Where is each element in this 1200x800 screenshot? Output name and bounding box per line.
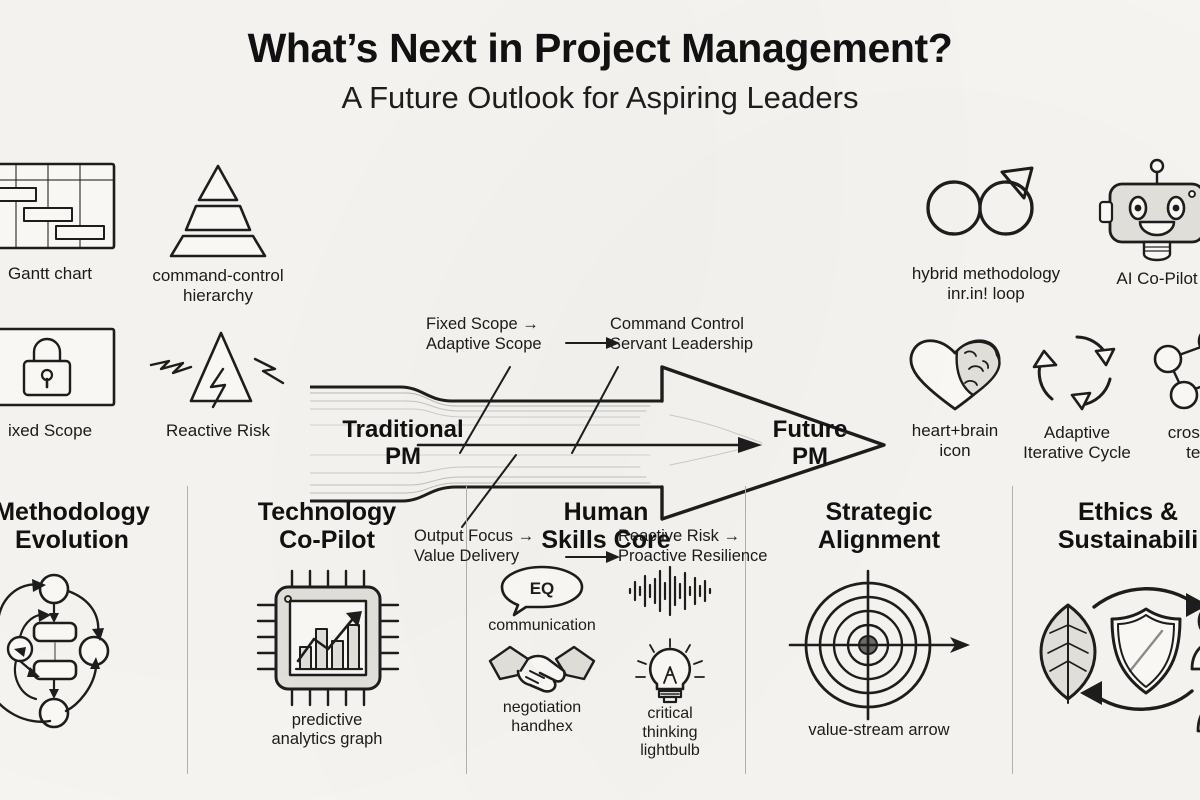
pillar-art: [188, 565, 466, 711]
arrow-start-label: Traditional PM: [328, 417, 478, 471]
pillar-divider: [187, 486, 188, 774]
icon-cell-heart-brain: heart+brain icon: [896, 325, 1014, 461]
icon-caption: cross-fu tea: [1138, 423, 1200, 463]
icon-caption: ixed Scope: [0, 421, 135, 441]
skill-cell-critical-thinking: critical thinking lightbulb: [609, 637, 731, 761]
transition-note-value: Output Focus → Value Delivery: [414, 527, 574, 567]
skill-caption: critical thinking lightbulb: [609, 705, 731, 761]
lightbulb-icon: [628, 637, 712, 705]
target-bullseye-arrow-icon: [784, 565, 974, 721]
icon-caption: command-control hierarchy: [138, 266, 298, 306]
heart-brain-icon: [899, 325, 1011, 415]
skill-cell-negotiation: negotiation handhex: [481, 637, 603, 761]
skill-cell-communication: EQ communication: [481, 563, 603, 636]
pillar-divider: [1012, 486, 1013, 774]
pillar-art: [0, 565, 186, 755]
icon-caption: AI Co-Pilot: [1082, 269, 1200, 289]
eq-speech-bubble-icon: EQ: [496, 563, 588, 617]
icon-cell-fixed-scope: ixed Scope: [0, 325, 135, 441]
upper-icon-band: Gantt chart command-control hierarchy ix…: [0, 150, 1200, 480]
page-subtitle: A Future Outlook for Aspiring Leaders: [0, 80, 1200, 116]
infinity-loop-arrow-icon: [906, 158, 1066, 258]
pillar-title: Ethics & Sustainabili: [1013, 498, 1200, 555]
icon-cell-gantt-chart: Gantt chart: [0, 158, 135, 284]
skill-cell-waveform: [609, 563, 731, 636]
pillar-ethics-sustainability: Ethics & Sustainabili: [1013, 480, 1200, 800]
audio-waveform-icon: [624, 563, 716, 617]
header: What’s Next in Project Management? A Fut…: [0, 0, 1200, 116]
robot-head-icon: [1092, 158, 1200, 263]
icon-cell-hybrid-methodology: hybrid methodology inr.in! loop: [896, 158, 1076, 304]
pillar-caption: value-stream arrow: [746, 721, 1012, 740]
pyramid-hierarchy-icon: [159, 160, 277, 260]
icon-caption: hybrid methodology inr.in! loop: [896, 264, 1076, 304]
transition-note-scope: Fixed Scope → Adaptive Scope: [426, 315, 576, 355]
pillar-art: [746, 565, 1012, 721]
transition-note-resilience: Reactive Risk → Proactive Resilience: [618, 527, 818, 567]
pillar-art: [1013, 565, 1200, 745]
lightning-triangle-icon: [143, 325, 293, 415]
icon-cell-cross-functional-team: cross-fu tea: [1138, 325, 1200, 463]
padlock-icon: [0, 325, 120, 415]
skill-caption: negotiation handhex: [481, 699, 603, 736]
leaf-shield-person-cycle-icon: [1016, 565, 1200, 745]
pillar-methodology-evolution: Methodology Evolution: [0, 480, 186, 800]
transition-note-leadership: Command Control Servant Leadership: [610, 315, 800, 355]
arrow-end-label: Future PM: [755, 417, 865, 471]
skill-caption: communication: [481, 617, 603, 636]
pillar-title: Methodology Evolution: [0, 498, 186, 555]
icon-caption: Reactive Risk: [138, 421, 298, 441]
icon-cell-reactive-risk: Reactive Risk: [138, 325, 298, 441]
pillars-section: Methodology Evolution: [0, 480, 1200, 800]
cpu-chip-analytics-icon: [252, 565, 402, 711]
icon-caption: Adaptive Iterative Cycle: [1013, 423, 1141, 463]
eq-badge-text: EQ: [530, 579, 555, 598]
circular-arrows-icon: [1022, 325, 1132, 417]
gantt-chart-icon: [0, 158, 120, 258]
icon-caption: Gantt chart: [0, 264, 135, 284]
human-skills-group-icon: EQ communication: [481, 563, 731, 761]
handshake-icon: [488, 637, 596, 699]
network-nodes-icon: [1142, 325, 1200, 417]
pillar-caption: predictive analytics graph: [188, 711, 466, 750]
icon-cell-ai-co-pilot: AI Co-Pilot: [1082, 158, 1200, 289]
page-title: What’s Next in Project Management?: [0, 26, 1200, 71]
process-flow-cycle-icon: [0, 565, 168, 755]
icon-caption: heart+brain icon: [896, 421, 1014, 461]
icon-cell-command-control-hierarchy: command-control hierarchy: [138, 160, 298, 306]
icon-cell-adaptive-iterative-cycle: Adaptive Iterative Cycle: [1013, 325, 1141, 463]
